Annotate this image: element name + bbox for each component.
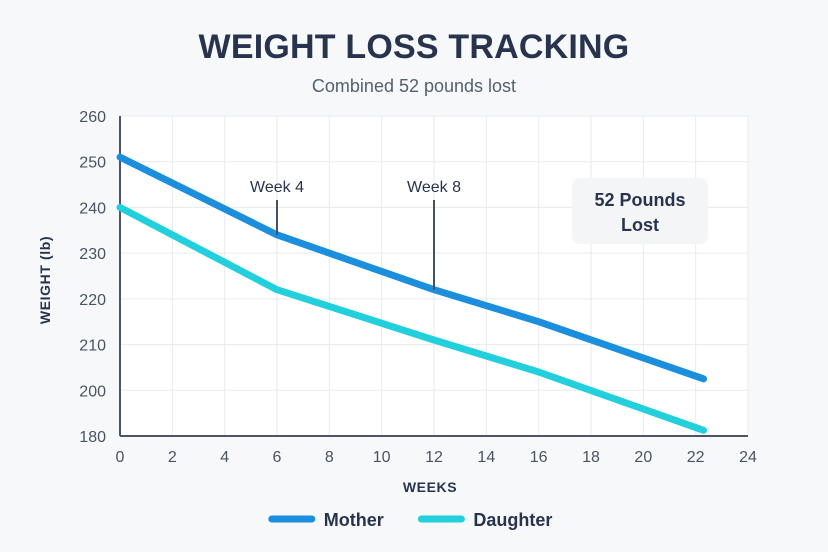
- x-axis-tick-label: 6: [273, 449, 282, 466]
- x-axis-tick-label: 14: [477, 449, 495, 466]
- x-axis-tick-label: 24: [739, 449, 757, 466]
- y-axis-tick-label: 180: [79, 429, 106, 446]
- x-axis-tick-labels: 024681012141618202224: [116, 449, 757, 466]
- callout-badge: 52 PoundsLost: [572, 178, 708, 244]
- y-axis-tick-label: 240: [79, 200, 106, 217]
- y-axis-tick-label: 230: [79, 246, 106, 263]
- x-axis-tick-label: 2: [168, 449, 177, 466]
- y-axis-tick-labels: 180200210220230240250260: [79, 109, 106, 446]
- y-axis-title: WEIGHT (lb): [37, 236, 53, 324]
- x-axis-tick-label: 8: [325, 449, 334, 466]
- y-axis-tick-label: 260: [79, 109, 106, 126]
- chart-card: WEIGHT LOSS TRACKING Combined 52 pounds …: [0, 0, 828, 552]
- x-axis-tick-label: 4: [220, 449, 229, 466]
- y-axis-tick-label: 250: [79, 155, 106, 172]
- y-axis-tick-label: 210: [79, 338, 106, 355]
- x-axis-tick-label: 0: [116, 449, 125, 466]
- legend-label-mother[interactable]: Mother: [324, 510, 384, 530]
- x-axis-tick-label: 16: [530, 449, 548, 466]
- x-axis-title: WEEKS: [403, 479, 457, 495]
- x-axis-tick-label: 18: [582, 449, 600, 466]
- annotation-label: Week 8: [407, 179, 461, 196]
- callout-line-1: 52 Pounds: [594, 190, 685, 210]
- x-axis-tick-label: 22: [687, 449, 705, 466]
- callout-line-2: Lost: [621, 215, 659, 235]
- x-axis-tick-label: 20: [634, 449, 652, 466]
- y-axis-tick-label: 200: [79, 383, 106, 400]
- chart-legend: MotherDaughter: [272, 510, 553, 530]
- y-axis-tick-label: 220: [79, 292, 106, 309]
- x-axis-tick-label: 10: [373, 449, 391, 466]
- x-axis-tick-label: 12: [425, 449, 443, 466]
- legend-label-daughter[interactable]: Daughter: [473, 510, 552, 530]
- line-chart-plot: 180200210220230240250260 024681012141618…: [0, 0, 828, 552]
- annotation-label: Week 4: [250, 179, 304, 196]
